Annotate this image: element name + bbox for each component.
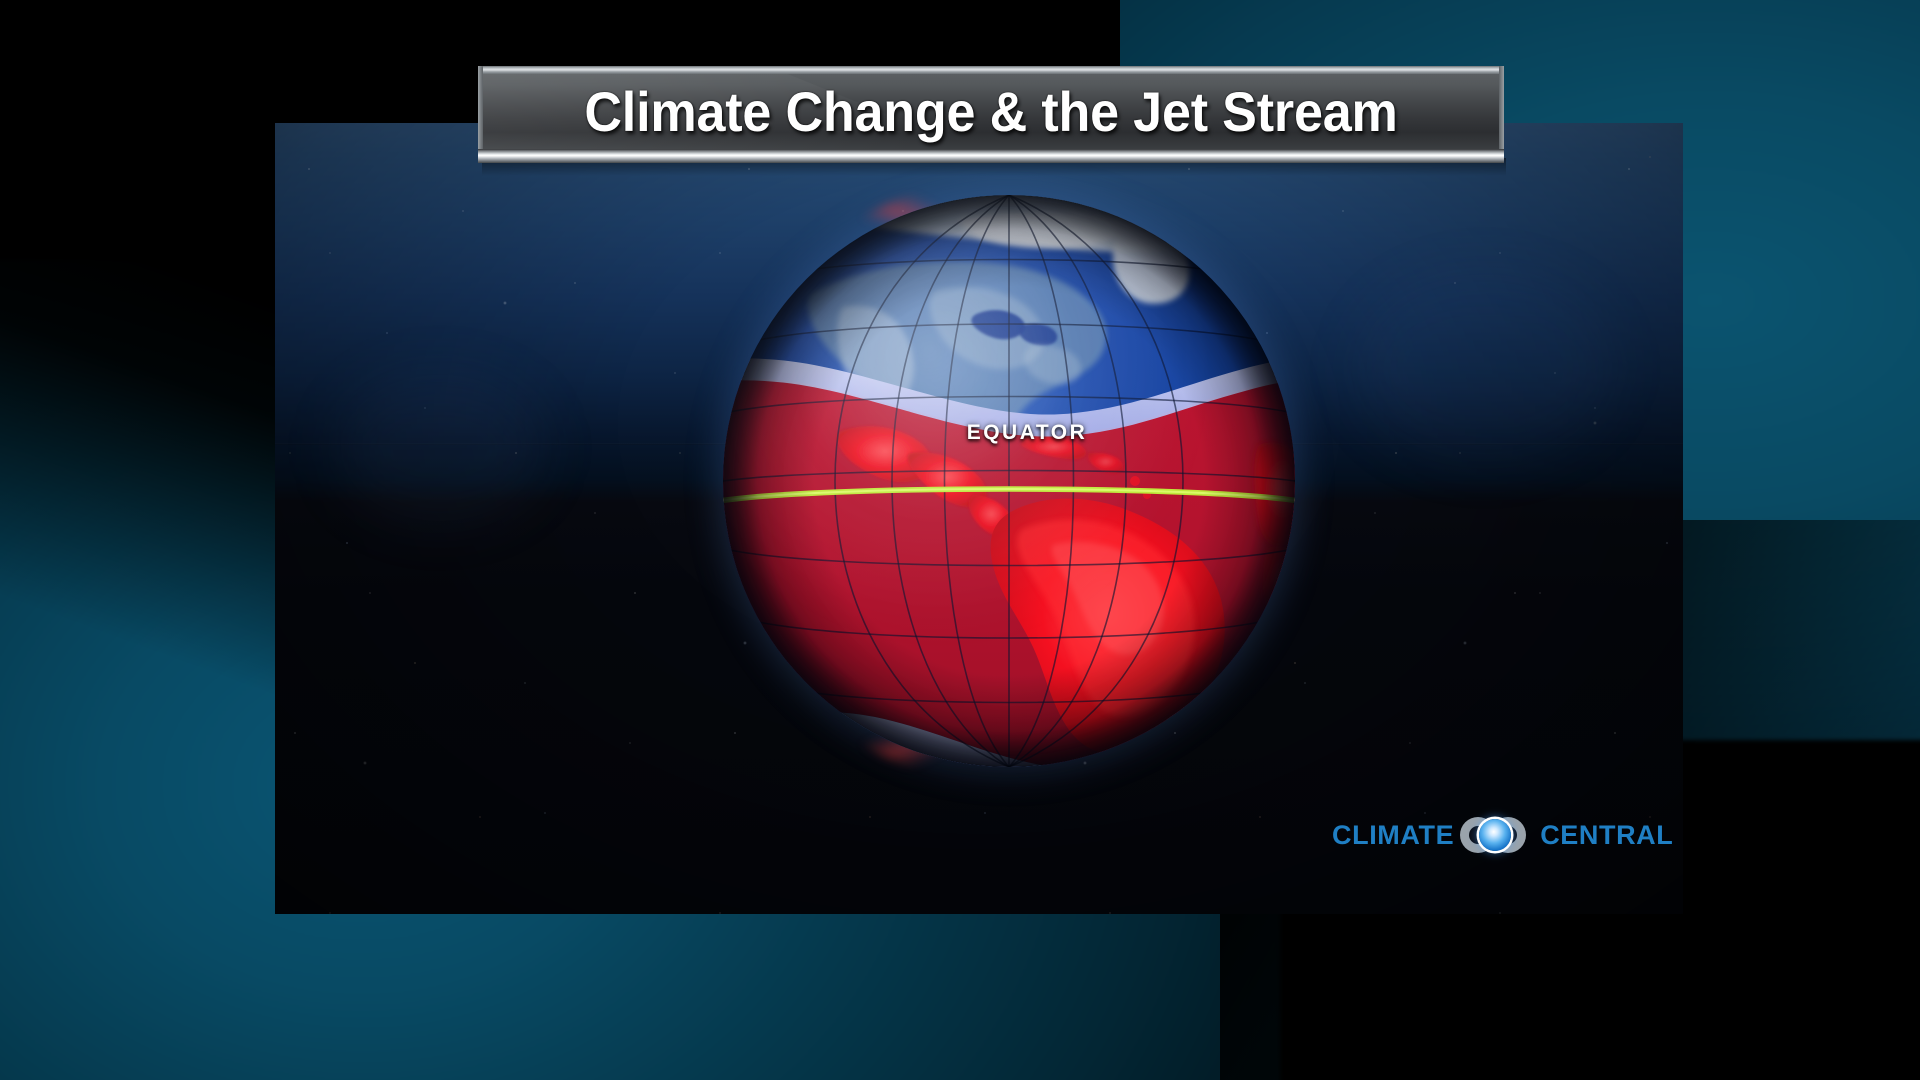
banner-chrome-bottom-edge — [478, 149, 1504, 163]
banner-chrome-top-edge — [478, 66, 1504, 74]
title-banner: Climate Change & the Jet Stream — [478, 66, 1504, 163]
broadcast-graphic-stage: EQUATOR CLIMATE CENTRAL Climate Change &… — [0, 0, 1920, 1080]
globe-limb-shade — [723, 195, 1295, 767]
graphic-panel: EQUATOR CLIMATE CENTRAL — [275, 123, 1683, 914]
globe-svg — [723, 195, 1295, 767]
page-title: Climate Change & the Jet Stream — [514, 74, 1468, 149]
earth-globe: EQUATOR — [723, 195, 1295, 767]
globe-sphere — [723, 195, 1295, 767]
